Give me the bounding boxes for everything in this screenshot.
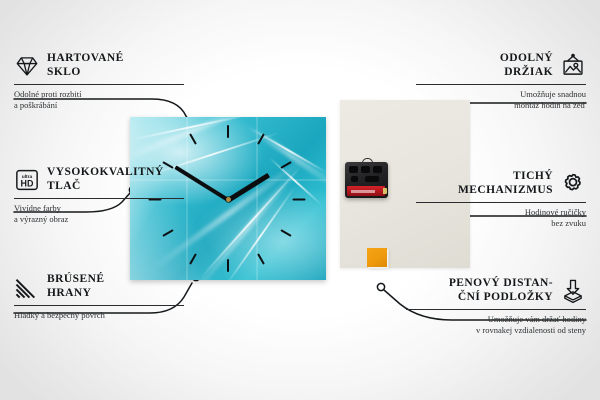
infographic-stage: HARTOVANÉ SKLO Odolné proti rozbití a po… <box>0 0 600 400</box>
feature-header: ODOLNÝ DRŽIAK <box>416 52 586 79</box>
feature-description: Odolné proti rozbití a poškrábání <box>14 89 184 111</box>
feature-title-line1: TICHÝ <box>458 170 553 184</box>
battery-terminal <box>383 188 387 194</box>
feature-title-line1: PENOVÝ DISTAN- <box>449 277 553 291</box>
feature-desc-line2: bez zvuku <box>416 218 586 229</box>
feature-desc-line2: v rovnakej vzdialenosti od steny <box>406 325 586 336</box>
clock-mechanism <box>345 158 388 198</box>
feature-desc-line1: Umožňuje vám držať hodiny <box>406 314 586 325</box>
feature-header: ultra HD VYSOKOKVALITNÝ TLAČ <box>14 166 184 193</box>
feature-description: Hodinové ručičky bez zvuku <box>416 207 586 229</box>
feature-divider <box>14 305 184 306</box>
feature-header: TICHÝ MECHANIZMUS <box>416 170 586 197</box>
feature-divider <box>406 309 586 310</box>
mechanism-detail <box>349 166 358 173</box>
connector-dot-right-3 <box>377 283 384 290</box>
svg-text:HD: HD <box>21 178 34 188</box>
hour-marker-12 <box>227 125 229 138</box>
ultra-hd-icon: ultra HD <box>14 167 40 193</box>
feather-streak <box>130 117 261 163</box>
foam-spacer-pad <box>367 248 387 267</box>
feature-header: BRÚSENÉ HRANY <box>14 273 184 300</box>
feature-divider <box>416 84 586 85</box>
feature-title-line2: ČNÍ PODLOŽKY <box>449 291 553 305</box>
feature-title-line2: HRANY <box>47 287 104 301</box>
hour-marker-3 <box>293 199 306 201</box>
hour-marker-4 <box>280 229 291 237</box>
feature-desc-line2: a poškrábání <box>14 100 184 111</box>
feature-desc-line1: Odolné proti rozbití <box>14 89 184 100</box>
hour-marker-11 <box>189 133 197 144</box>
feature-tempered-glass: HARTOVANÉ SKLO Odolné proti rozbití a po… <box>14 52 184 111</box>
feature-description: Umožňuje snadnou montáž hodin na zeď <box>416 89 586 111</box>
mechanism-detail <box>361 166 370 173</box>
feature-high-quality-print: ultra HD VYSOKOKVALITNÝ TLAČ Vivídne far… <box>14 166 184 225</box>
feature-title-line1: VYSOKOKVALITNÝ <box>47 166 164 180</box>
feature-title-line2: DRŽIAK <box>500 66 553 80</box>
feature-description: Umožňuje vám držať hodiny v rovnakej vzd… <box>406 314 586 336</box>
mechanism-detail <box>365 176 379 182</box>
feature-desc-line1: Vivídne farby <box>14 203 184 214</box>
feature-title: ODOLNÝ DRŽIAK <box>500 52 553 79</box>
feature-desc-line1: Hladký a bezpečný povrch <box>14 310 184 321</box>
feature-title: HARTOVANÉ SKLO <box>47 52 124 79</box>
feature-desc-line1: Umožňuje snadnou <box>416 89 586 100</box>
feature-title-line2: SKLO <box>47 66 124 80</box>
feature-divider <box>14 198 184 199</box>
feature-title: TICHÝ MECHANIZMUS <box>458 170 553 197</box>
aa-battery <box>347 186 385 196</box>
foam-pad-icon <box>560 278 586 304</box>
feature-foam-spacers: PENOVÝ DISTAN- ČNÍ PODLOŽKY Umožňuje vám… <box>406 277 586 336</box>
feature-header: HARTOVANÉ SKLO <box>14 52 184 79</box>
feature-durable-hanger: ODOLNÝ DRŽIAK Umožňuje snadnou montáž ho… <box>416 52 586 111</box>
feature-divider <box>416 202 586 203</box>
feature-title-line1: HARTOVANÉ <box>47 52 124 66</box>
gear-icon <box>560 171 586 197</box>
panel-seam-vertical <box>186 117 188 280</box>
feature-title: PENOVÝ DISTAN- ČNÍ PODLOŽKY <box>449 277 553 304</box>
hour-marker-5 <box>257 253 265 264</box>
hour-marker-6 <box>227 259 229 272</box>
feature-desc-line1: Hodinové ručičky <box>416 207 586 218</box>
mechanism-detail <box>373 166 382 173</box>
mechanism-body <box>345 162 388 198</box>
feature-description: Vivídne farby a výrazný obraz <box>14 203 184 225</box>
hour-marker-7 <box>189 253 197 264</box>
picture-hanger-icon <box>560 53 586 79</box>
mechanism-detail <box>351 176 358 182</box>
brushed-edges-icon <box>14 274 40 300</box>
hour-marker-8 <box>162 229 173 237</box>
feature-description: Hladký a bezpečný povrch <box>14 310 184 321</box>
feature-desc-line2: montáž hodin na zeď <box>416 100 586 111</box>
diamond-icon <box>14 53 40 79</box>
feature-divider <box>14 84 184 85</box>
feature-desc-line2: a výrazný obraz <box>14 214 184 225</box>
feature-polished-edges: BRÚSENÉ HRANY Hladký a bezpečný povrch <box>14 273 184 321</box>
feature-title: BRÚSENÉ HRANY <box>47 273 104 300</box>
clock-hub <box>226 197 231 202</box>
feature-title-line1: ODOLNÝ <box>500 52 553 66</box>
feature-title-line2: MECHANIZMUS <box>458 184 553 198</box>
feature-title-line1: BRÚSENÉ <box>47 273 104 287</box>
feature-title: VYSOKOKVALITNÝ TLAČ <box>47 166 164 193</box>
feature-silent-mechanism: TICHÝ MECHANIZMUS Hodinové ručičky bez z… <box>416 170 586 229</box>
feature-header: PENOVÝ DISTAN- ČNÍ PODLOŽKY <box>406 277 586 304</box>
battery-label <box>351 190 375 193</box>
feature-title-line2: TLAČ <box>47 180 164 194</box>
